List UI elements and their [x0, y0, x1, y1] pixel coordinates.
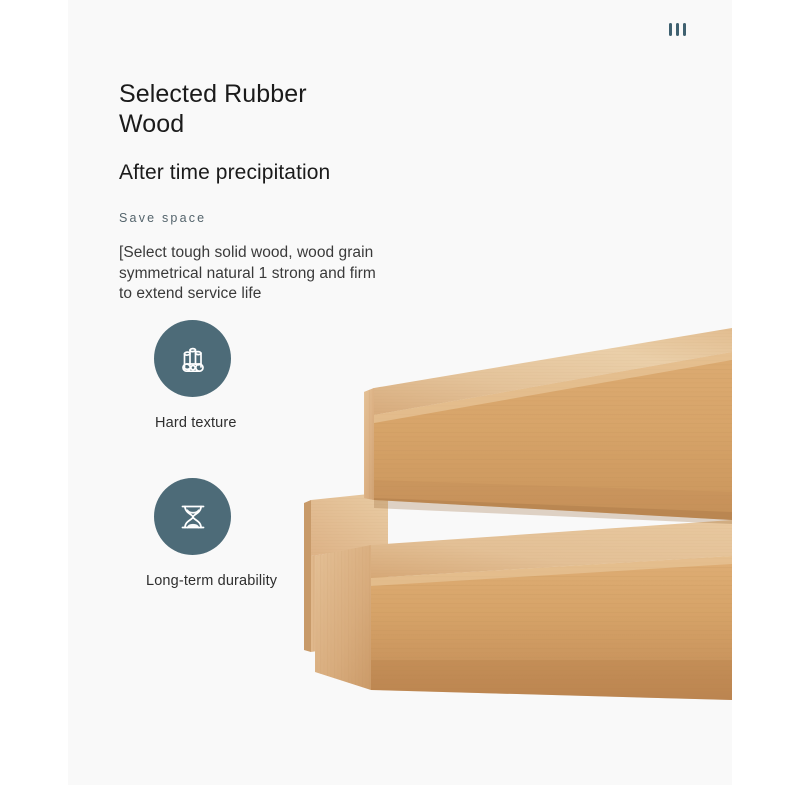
- bar-tick-icon: [683, 23, 686, 36]
- product-feature-image: Selected Rubber Wood After time precipit…: [0, 0, 800, 800]
- beam-contact-shadow: [374, 498, 732, 524]
- log-stack-icon: [171, 337, 215, 381]
- wood-beam-lower: [315, 520, 732, 700]
- feature-item-hard-texture: Hard texture: [145, 320, 375, 432]
- feature-label: Long-term durability: [146, 572, 375, 590]
- feature-icon-badge: [154, 320, 231, 397]
- feature-label: Hard texture: [155, 414, 375, 432]
- hourglass-icon: [171, 495, 215, 539]
- bar-tick-icon: [676, 23, 679, 36]
- wood-beam-upper: [364, 328, 732, 520]
- page-subtitle: After time precipitation: [119, 160, 449, 186]
- page-title: Selected Rubber Wood: [119, 79, 449, 139]
- headline-block: Selected Rubber Wood After time precipit…: [119, 79, 449, 305]
- three-bars-mark: [669, 17, 697, 41]
- feature-icon-badge: [154, 478, 231, 555]
- body-copy: [Select tough solid wood, wood grain sym…: [119, 243, 449, 305]
- eyebrow-label: Save space: [119, 210, 449, 226]
- content-panel: Selected Rubber Wood After time precipit…: [68, 0, 732, 785]
- feature-item-long-term-durability: Long-term durability: [145, 478, 375, 590]
- bar-tick-icon: [669, 23, 672, 36]
